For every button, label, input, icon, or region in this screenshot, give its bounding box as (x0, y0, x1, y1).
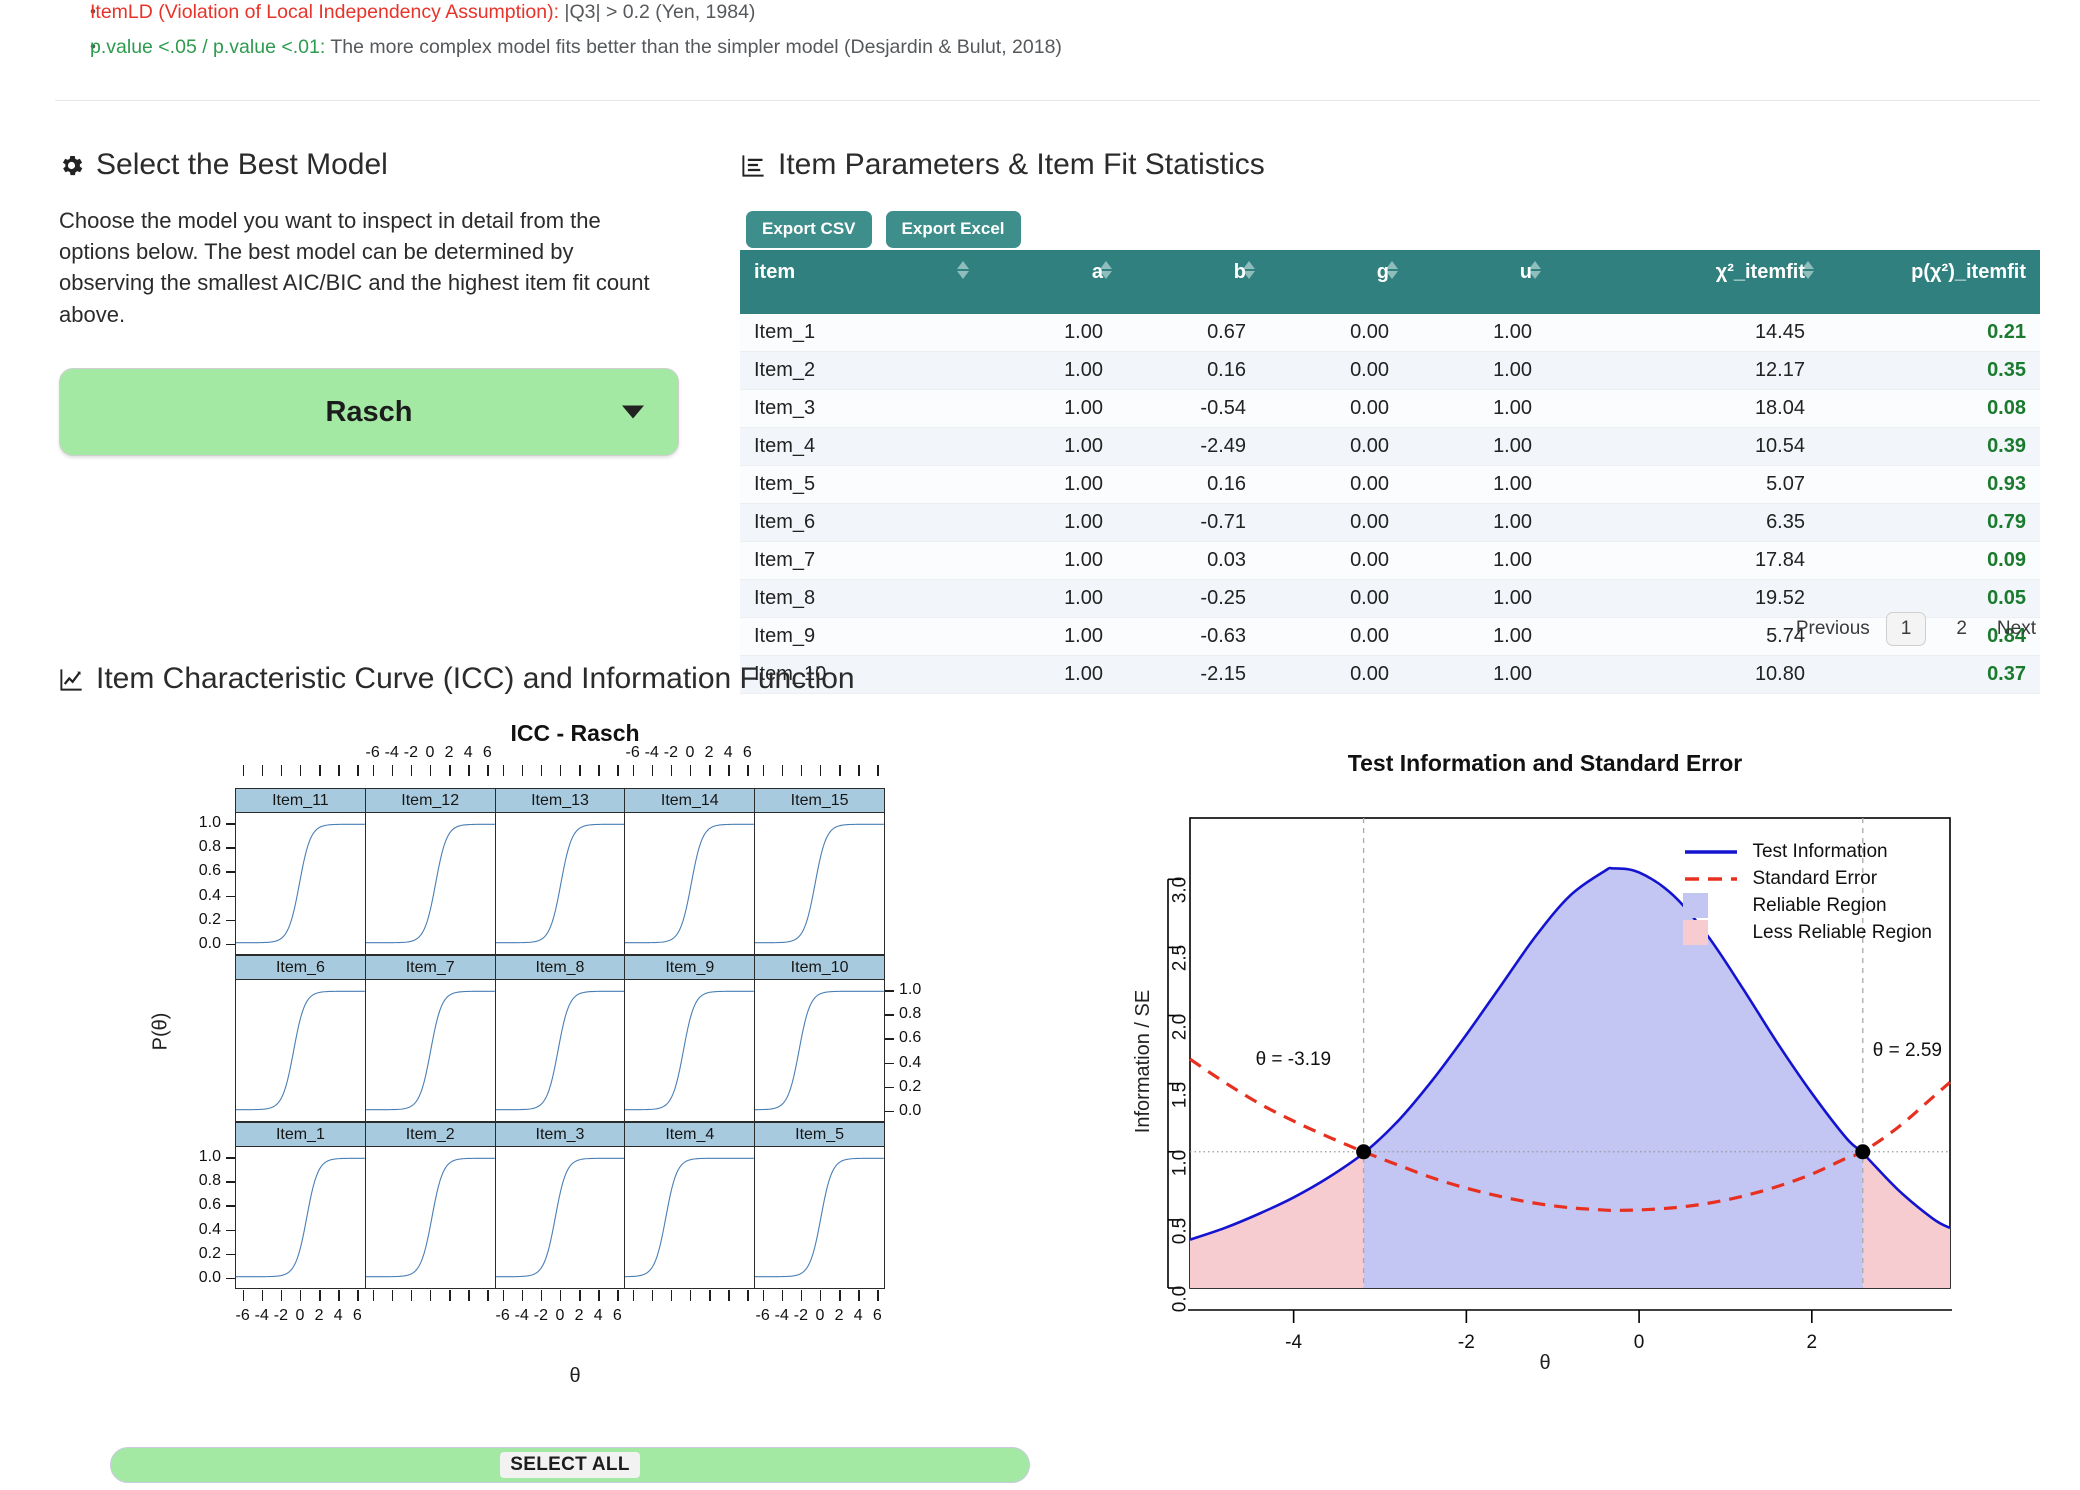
cell-chi2: 5.07 (1546, 465, 1819, 503)
cell-p: 0.39 (1819, 427, 2040, 465)
icc-panel-item_13[interactable] (496, 813, 626, 954)
x-tick-label: 4 (464, 744, 473, 762)
test-information-plot: Test Information and Standard Error Info… (1080, 750, 2010, 1410)
icc-x-axis-label: θ (150, 1365, 1000, 1388)
y-tick-label: 0.6 (899, 1029, 921, 1047)
cell-item: Item_1 (740, 314, 974, 352)
x-tick-label: 6 (613, 1307, 622, 1325)
table-row[interactable]: Item_41.00-2.490.001.0010.540.39 (740, 427, 2040, 465)
panel-strip-label: Item_6 (236, 956, 366, 979)
icc-panel-item_1[interactable] (236, 1147, 366, 1288)
column-header-item[interactable]: item (740, 250, 974, 296)
x-tick-label: -6 (366, 744, 380, 762)
x-tick-label: 4 (724, 744, 733, 762)
cell-g: 0.00 (1260, 427, 1403, 465)
panel-strip-label: Item_12 (366, 789, 496, 812)
tif-y-tick-label: 1.0 (1169, 1150, 1191, 1176)
cell-p: 0.93 (1819, 465, 2040, 503)
x-tick-label: 4 (594, 1307, 603, 1325)
tif-y-tick-label: 0.5 (1169, 1218, 1191, 1244)
select-all-label: SELECT ALL (500, 1452, 639, 1478)
legend-key-icon (1683, 871, 1739, 887)
cell-p: 0.79 (1819, 503, 2040, 541)
table-row[interactable]: Item_51.000.160.001.005.070.93 (740, 465, 2040, 503)
x-tick-label: 2 (315, 1307, 324, 1325)
legend-label: Test Information (1752, 841, 1887, 863)
x-tick-label: 0 (816, 1307, 825, 1325)
cell-g: 0.00 (1260, 655, 1403, 693)
y-tick-label: 1.0 (199, 1148, 221, 1166)
column-header-p-chi2-itemfit[interactable]: p(χ²)_itemfit (1819, 250, 2040, 296)
select-all-button[interactable]: SELECT ALL (110, 1447, 1030, 1483)
cell-u: 1.00 (1403, 579, 1546, 617)
y-tick-label: 0.6 (199, 1196, 221, 1214)
tif-x-tick-label: -2 (1458, 1332, 1475, 1354)
cell-u: 1.00 (1403, 655, 1546, 693)
panel-row (235, 812, 885, 955)
cell-item: Item_8 (740, 579, 974, 617)
column-header-chi2-itemfit[interactable]: χ²_itemfit (1546, 250, 1819, 296)
x-tick-label: 4 (334, 1307, 343, 1325)
icc-panel-item_8[interactable] (496, 980, 626, 1121)
x-tick-label: -6 (496, 1307, 510, 1325)
tif-x-axis-label: θ (1080, 1352, 2010, 1375)
cell-a: 1.00 (974, 541, 1117, 579)
tif-y-axis-label: Information / SE (1132, 990, 1155, 1133)
cell-g: 0.00 (1260, 351, 1403, 389)
icc-panel-item_14[interactable] (625, 813, 755, 954)
cell-p: 0.08 (1819, 389, 2040, 427)
icc-panel-item_3[interactable] (496, 1147, 626, 1288)
y-tick-label: 0.6 (199, 862, 221, 880)
cell-item: Item_9 (740, 617, 974, 655)
icc-y-axis-label: P(θ) (149, 1013, 172, 1051)
y-tick-label: 0.2 (199, 1245, 221, 1263)
x-tick-label: 0 (556, 1307, 565, 1325)
cell-u: 1.00 (1403, 389, 1546, 427)
panel-strip-label: Item_13 (496, 789, 626, 812)
best-model-description: Choose the model you want to inspect in … (59, 205, 669, 330)
x-tick-label: -4 (515, 1307, 529, 1325)
icc-lattice-plot: ICC - Rasch P(θ) θ -6-4-20246-6-4-20246-… (150, 720, 1000, 1400)
legend-key-icon (1683, 925, 1739, 941)
panel-strip-row: Item_1Item_2Item_3Item_4Item_5 (235, 1122, 885, 1146)
panel-strip-label: Item_15 (755, 789, 884, 812)
x-tick-label: 2 (835, 1307, 844, 1325)
cell-u: 1.00 (1403, 351, 1546, 389)
x-tick-label: 6 (353, 1307, 362, 1325)
sort-icon[interactable] (1385, 261, 1398, 285)
icc-panel-item_12[interactable] (366, 813, 496, 954)
x-tick-label: 2 (575, 1307, 584, 1325)
legend-entry: Less Reliable Region (1683, 919, 1932, 946)
cell-g: 0.00 (1260, 465, 1403, 503)
x-tick-label: -2 (534, 1307, 548, 1325)
icc-panel-item_7[interactable] (366, 980, 496, 1121)
cell-b: 0.03 (1117, 541, 1260, 579)
cell-g: 0.00 (1260, 314, 1403, 352)
note-text: The more complex model fits better than … (325, 36, 1062, 58)
legend-entry: Test Information (1683, 838, 1932, 865)
x-tick-label: -4 (645, 744, 659, 762)
tif-y-tick-label: 1.5 (1169, 1081, 1191, 1107)
x-tick-label: -4 (775, 1307, 789, 1325)
annotation-upper-bound: θ = 2.59 (1873, 1040, 1942, 1062)
icc-panel-item_15[interactable] (755, 813, 884, 954)
cell-chi2: 14.45 (1546, 314, 1819, 352)
icc-section-heading-text: Item Characteristic Curve (ICC) and Info… (96, 662, 855, 696)
section-divider (55, 100, 2040, 101)
x-tick-label: 6 (873, 1307, 882, 1325)
sort-icon[interactable] (1242, 261, 1255, 285)
tif-y-tick-label: 0.0 (1169, 1286, 1191, 1312)
legend-key-icon (1683, 898, 1739, 914)
export-excel-button[interactable]: Export Excel (886, 211, 1021, 248)
list-chart-icon (740, 152, 767, 179)
panel-row (235, 1146, 885, 1289)
pagination-page-2[interactable]: 2 (1942, 613, 1981, 645)
model-select-value: Rasch (325, 396, 412, 429)
cell-b: -0.54 (1117, 389, 1260, 427)
cell-chi2: 19.52 (1546, 579, 1819, 617)
y-tick-label: 0.4 (199, 887, 221, 905)
cell-a: 1.00 (974, 427, 1117, 465)
cell-item: Item_3 (740, 389, 974, 427)
chevron-down-icon (622, 406, 644, 419)
panel-strip-label: Item_2 (366, 1123, 496, 1146)
tif-y-tick-label: 2.5 (1169, 945, 1191, 971)
export-button-group: Export CSV Export Excel (746, 211, 1021, 248)
icc-panel-item_6[interactable] (236, 980, 366, 1121)
note-label: ItemLD (Violation of Local Independency … (90, 1, 559, 23)
x-tick-label: -2 (274, 1307, 288, 1325)
x-tick-label: -2 (404, 744, 418, 762)
note-item-pvalue: • p.value <.05 / p.value <.01: The more … (0, 36, 1062, 59)
y-axis: 0.00.20.40.60.81.0 (183, 1146, 235, 1289)
icc-panel-item_4[interactable] (625, 1147, 755, 1288)
y-tick-label: 0.2 (199, 911, 221, 929)
best-model-heading-text: Select the Best Model (96, 148, 388, 182)
item-table-heading: Item Parameters & Item Fit Statistics (740, 148, 1265, 182)
panel-strip-label: Item_4 (625, 1123, 755, 1146)
x-tick-label: -6 (626, 744, 640, 762)
panel-strip-label: Item_5 (755, 1123, 884, 1146)
bullet-icon: • (0, 1, 90, 22)
table-header-row: item a b g u χ²_itemfit p(χ²)_itemfit (740, 250, 2040, 296)
item-table-heading-text: Item Parameters & Item Fit Statistics (778, 148, 1265, 182)
pagination-previous[interactable]: Previous (1796, 618, 1870, 640)
y-tick-label: 0.0 (199, 1269, 221, 1287)
cell-item: Item_7 (740, 541, 974, 579)
tif-plot-title: Test Information and Standard Error (1080, 750, 2010, 777)
column-header-b[interactable]: b (1117, 250, 1260, 296)
cell-a: 1.00 (974, 351, 1117, 389)
cell-u: 1.00 (1403, 314, 1546, 352)
y-tick-label: 0.8 (899, 1005, 921, 1023)
panel-strip-label: Item_7 (366, 956, 496, 979)
table-row[interactable]: Item_61.00-0.710.001.006.350.79 (740, 503, 2040, 541)
cell-item: Item_2 (740, 351, 974, 389)
cell-chi2: 10.80 (1546, 655, 1819, 693)
legend-label: Reliable Region (1752, 895, 1886, 917)
cell-a: 1.00 (974, 655, 1117, 693)
axis-label-row: -6-4-20246-6-4-20246-6-4-20246-6-4-20246… (235, 742, 885, 764)
cell-item: Item_5 (740, 465, 974, 503)
panel-row (235, 979, 885, 1122)
axis-tick-row (235, 1290, 885, 1302)
table-row[interactable]: Item_71.000.030.001.0017.840.09 (740, 541, 2040, 579)
cell-item: Item_4 (740, 427, 974, 465)
x-tick-label: 0 (686, 744, 695, 762)
x-tick-label: -4 (385, 744, 399, 762)
x-tick-label: -4 (255, 1307, 269, 1325)
icc-panel-item_11[interactable] (236, 813, 366, 954)
cell-chi2: 18.04 (1546, 389, 1819, 427)
sort-icon[interactable] (956, 261, 969, 285)
axis-label-row: -6-4-20246-6-4-20246-6-4-20246-6-4-20246… (235, 1305, 885, 1327)
gear-icon (58, 152, 85, 179)
tif-y-tick-label: 3.0 (1169, 877, 1191, 903)
cell-p: 0.37 (1819, 655, 2040, 693)
cell-u: 1.00 (1403, 617, 1546, 655)
panel-strip-label: Item_11 (236, 789, 366, 812)
sort-icon[interactable] (1801, 261, 1814, 285)
x-tick-label: 2 (705, 744, 714, 762)
icc-panel-item_5[interactable] (755, 1147, 884, 1288)
cell-u: 1.00 (1403, 427, 1546, 465)
cell-a: 1.00 (974, 314, 1117, 352)
cell-chi2: 12.17 (1546, 351, 1819, 389)
cell-b: -0.63 (1117, 617, 1260, 655)
y-tick-label: 0.4 (899, 1054, 921, 1072)
legend-label: Less Reliable Region (1752, 922, 1932, 944)
x-tick-label: 0 (426, 744, 435, 762)
y-axis: 0.00.20.40.60.81.0 (885, 979, 945, 1122)
cell-b: 0.16 (1117, 465, 1260, 503)
x-tick-label: -6 (756, 1307, 770, 1325)
panel-strip-label: Item_9 (625, 956, 755, 979)
cell-b: -0.25 (1117, 579, 1260, 617)
axis-tick-row (235, 764, 885, 776)
cell-u: 1.00 (1403, 503, 1546, 541)
panel-strip-label: Item_8 (496, 956, 626, 979)
cell-chi2: 5.74 (1546, 617, 1819, 655)
table-row[interactable]: Item_11.000.670.001.0014.450.21 (740, 314, 2040, 352)
cell-b: 0.67 (1117, 314, 1260, 352)
y-tick-label: 0.0 (199, 935, 221, 953)
x-tick-label: 6 (483, 744, 492, 762)
tif-y-tick-label: 2.0 (1169, 1013, 1191, 1039)
sort-icon[interactable] (1099, 261, 1112, 285)
col-label: χ²_itemfit (1716, 261, 1805, 283)
y-tick-label: 0.4 (199, 1221, 221, 1239)
y-tick-label: 1.0 (199, 814, 221, 832)
export-csv-button[interactable]: Export CSV (746, 211, 872, 248)
cell-p: 0.21 (1819, 314, 2040, 352)
tif-x-tick-label: 2 (1807, 1332, 1818, 1354)
note-item-itemld: • ItemLD (Violation of Local Independenc… (0, 1, 755, 24)
y-tick-label: 0.8 (199, 838, 221, 856)
y-axis: 0.00.20.40.60.81.0 (183, 812, 235, 955)
legend-key-icon (1683, 844, 1739, 860)
cell-b: 0.16 (1117, 351, 1260, 389)
y-tick-label: 0.8 (199, 1172, 221, 1190)
cell-g: 0.00 (1260, 389, 1403, 427)
cell-b: -2.49 (1117, 427, 1260, 465)
y-tick-label: 0.0 (899, 1102, 921, 1120)
panel-strip-label: Item_3 (496, 1123, 626, 1146)
y-tick-label: 0.2 (899, 1078, 921, 1096)
cell-g: 0.00 (1260, 579, 1403, 617)
x-tick-label: 4 (854, 1307, 863, 1325)
cell-chi2: 6.35 (1546, 503, 1819, 541)
legend-label: Standard Error (1752, 868, 1877, 890)
best-model-heading: Select the Best Model (58, 148, 388, 182)
col-label: item (754, 261, 795, 283)
icc-panel-item_10[interactable] (755, 980, 884, 1121)
table-filter-row (740, 296, 2040, 314)
table-pagination: Previous 1 2 Next (1796, 612, 2036, 646)
note-label: p.value <.05 / p.value <.01: (90, 36, 325, 58)
x-tick-label: -2 (664, 744, 678, 762)
table-row[interactable]: Item_101.00-2.150.001.0010.800.37 (740, 655, 2040, 693)
cell-b: -2.15 (1117, 655, 1260, 693)
cell-chi2: 10.54 (1546, 427, 1819, 465)
panel-strip-label: Item_1 (236, 1123, 366, 1146)
cell-a: 1.00 (974, 503, 1117, 541)
tif-x-tick-label: 0 (1634, 1332, 1645, 1354)
panel-strip-label: Item_10 (755, 956, 884, 979)
bullet-icon: • (0, 36, 90, 57)
col-label: p(χ²)_itemfit (1911, 261, 2026, 283)
column-header-g[interactable]: g (1260, 250, 1403, 296)
model-select-dropdown[interactable]: Rasch (59, 368, 679, 456)
cell-a: 1.00 (974, 465, 1117, 503)
annotation-lower-bound: θ = -3.19 (1256, 1049, 1332, 1071)
panel-strip-label: Item_14 (625, 789, 755, 812)
cell-item: Item_6 (740, 503, 974, 541)
cell-u: 1.00 (1403, 465, 1546, 503)
panel-strip-row: Item_11Item_12Item_13Item_14Item_15 (235, 788, 885, 812)
x-tick-label: 2 (445, 744, 454, 762)
cell-g: 0.00 (1260, 541, 1403, 579)
cell-g: 0.00 (1260, 617, 1403, 655)
panel-strip-row: Item_6Item_7Item_8Item_9Item_10 (235, 955, 885, 979)
line-chart-icon (58, 666, 85, 693)
table-row[interactable]: Item_31.00-0.540.001.0018.040.08 (740, 389, 2040, 427)
column-header-u[interactable]: u (1403, 250, 1546, 296)
pagination-page-1[interactable]: 1 (1886, 612, 1927, 646)
cell-g: 0.00 (1260, 503, 1403, 541)
pagination-next[interactable]: Next (1997, 618, 2036, 640)
sort-icon[interactable] (1528, 261, 1541, 285)
cell-p: 0.35 (1819, 351, 2040, 389)
cell-b: -0.71 (1117, 503, 1260, 541)
cell-p: 0.09 (1819, 541, 2040, 579)
cell-u: 1.00 (1403, 541, 1546, 579)
cell-chi2: 17.84 (1546, 541, 1819, 579)
y-tick-label: 1.0 (899, 981, 921, 999)
icc-panel-item_2[interactable] (366, 1147, 496, 1288)
tif-x-tick-label: -4 (1285, 1332, 1302, 1354)
cell-a: 1.00 (974, 579, 1117, 617)
x-tick-label: 6 (743, 744, 752, 762)
table-row[interactable]: Item_21.000.160.001.0012.170.35 (740, 351, 2040, 389)
icc-panel-item_9[interactable] (625, 980, 755, 1121)
note-text: |Q3| > 0.2 (Yen, 1984) (559, 1, 755, 23)
column-header-a[interactable]: a (974, 250, 1117, 296)
legend-entry: Standard Error (1683, 865, 1932, 892)
x-tick-label: -2 (794, 1307, 808, 1325)
icc-section-heading: Item Characteristic Curve (ICC) and Info… (58, 662, 855, 696)
cell-a: 1.00 (974, 617, 1117, 655)
x-tick-label: -6 (236, 1307, 250, 1325)
legend-entry: Reliable Region (1683, 892, 1932, 919)
tif-legend: Test InformationStandard ErrorReliable R… (1683, 838, 1932, 946)
cell-a: 1.00 (974, 389, 1117, 427)
x-tick-label: 0 (296, 1307, 305, 1325)
